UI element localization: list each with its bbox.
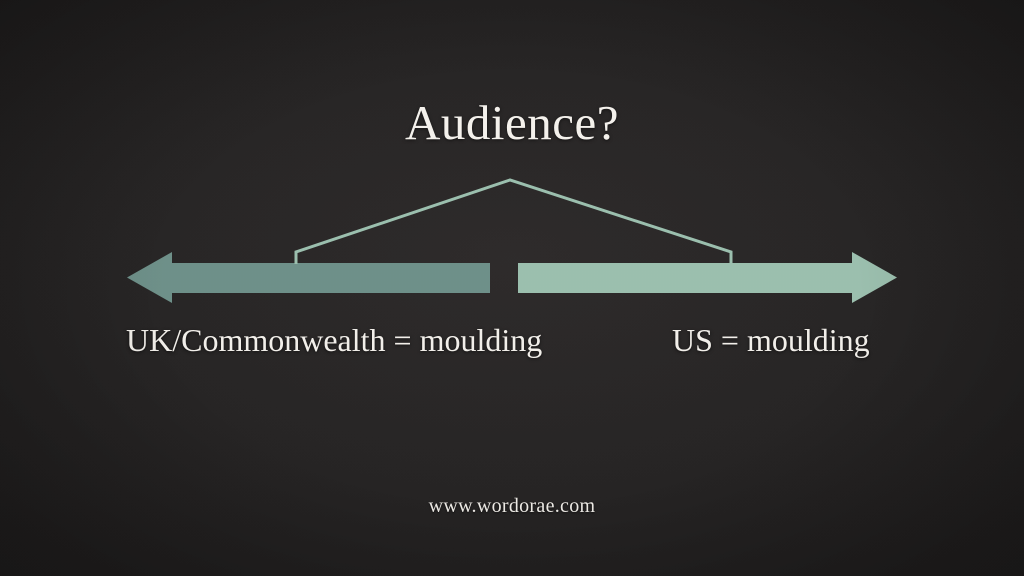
footer-website-url: www.wordorae.com — [0, 495, 1024, 518]
label-uk-commonwealth: UK/Commonwealth = moulding — [126, 322, 542, 359]
label-us: US = moulding — [672, 322, 870, 359]
left-arrow-group — [127, 252, 490, 303]
right-arrow-bar — [518, 263, 854, 293]
grain-overlay — [0, 0, 1024, 576]
audience-spectrum-diagram — [0, 0, 1024, 576]
page-title: Audience? — [0, 96, 1024, 150]
bracket-pointer-line — [296, 180, 731, 264]
slide-canvas: Audience? UK/Commonwealth = moulding US … — [0, 0, 1024, 576]
right-arrow-group — [518, 252, 897, 303]
left-arrow-bar — [170, 263, 490, 293]
right-arrowhead-icon — [852, 252, 897, 303]
left-arrowhead-icon — [127, 252, 172, 303]
vignette-overlay — [0, 0, 1024, 576]
